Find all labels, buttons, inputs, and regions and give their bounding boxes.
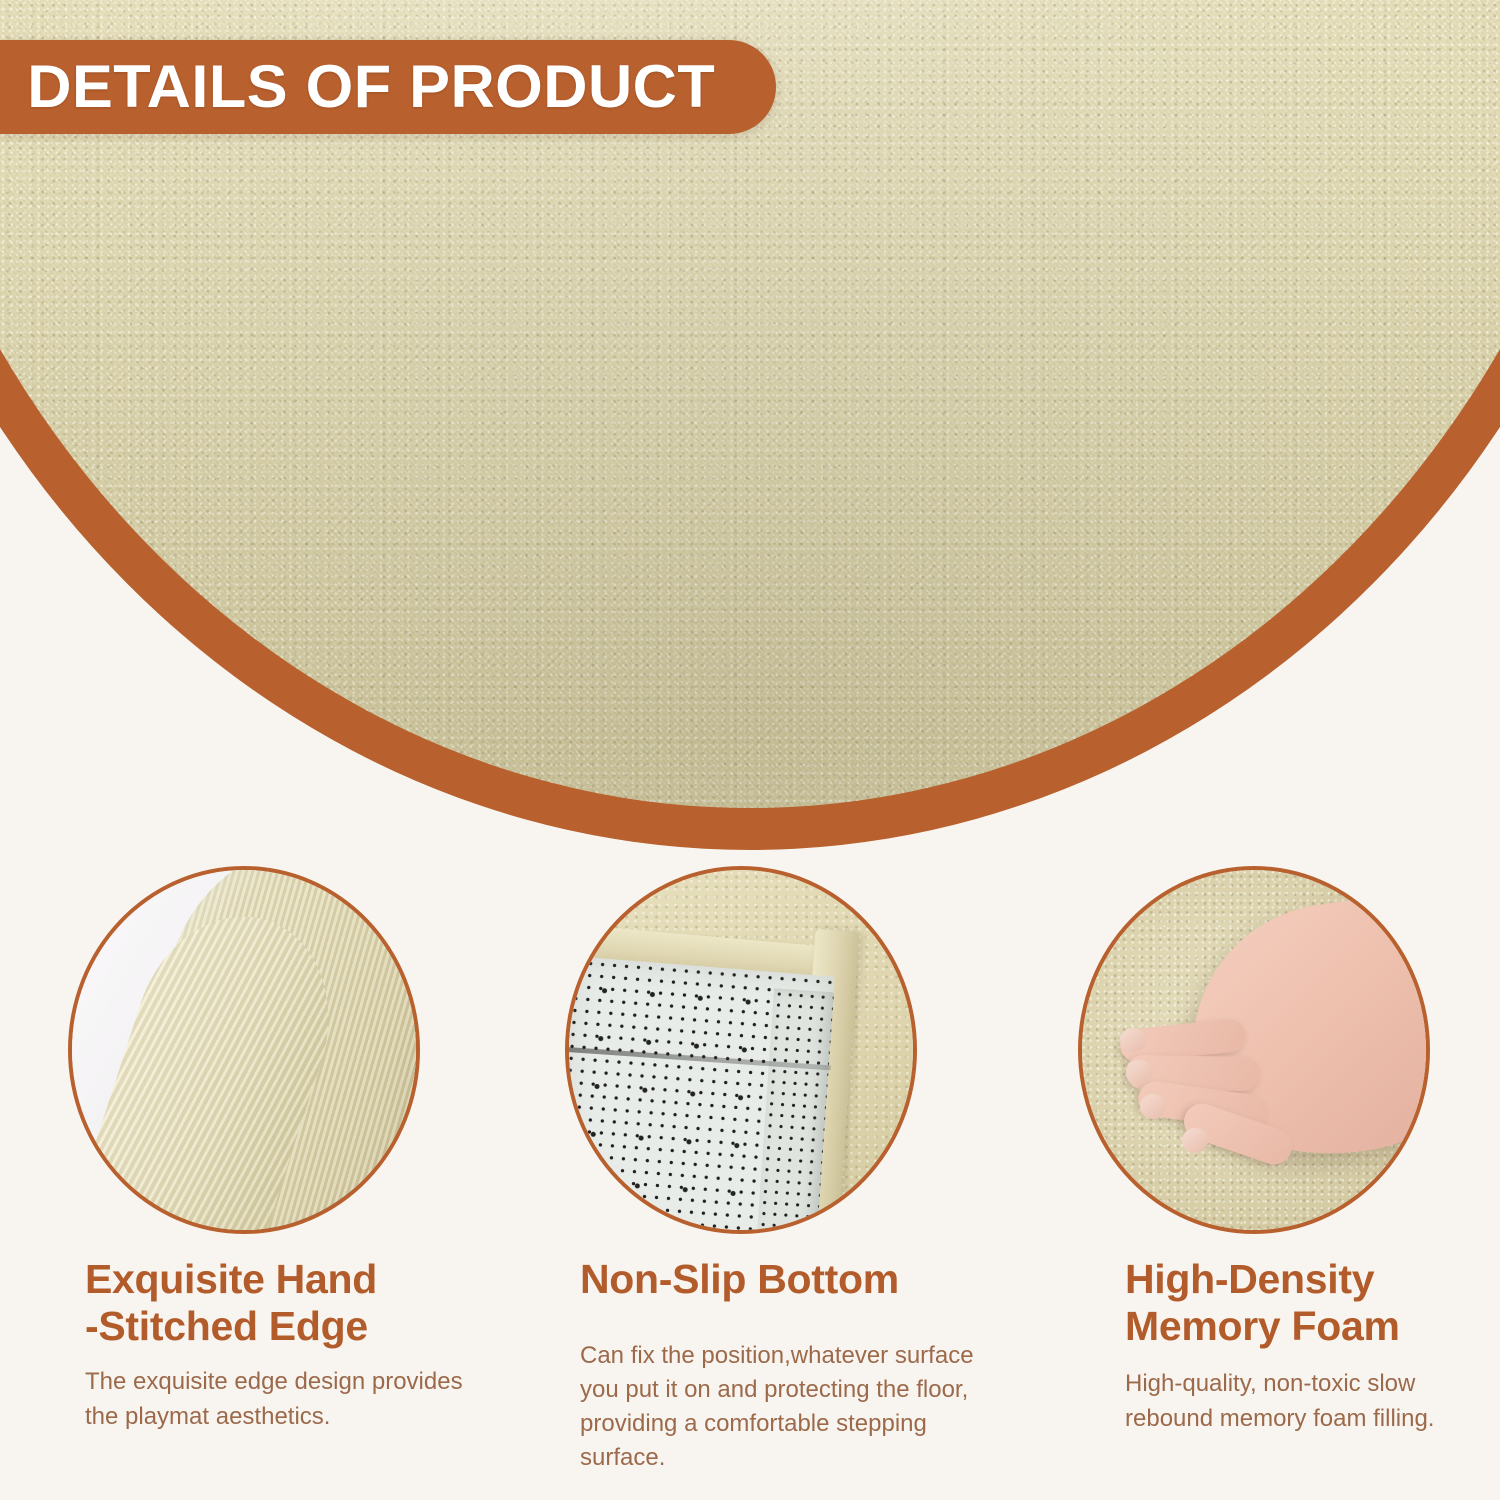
foam-photo-fingernail-ring [1140,1094,1166,1119]
feature-image-high-density-memory-foam [1078,866,1430,1234]
product-detail-infographic: DETAILS OF PRODUCT [0,0,1500,1500]
feature-title: Non-Slip Bottom [580,1256,1000,1303]
feature-text-exquisite-hand-stitched-edge: Exquisite Hand -Stitched Edge The exquis… [85,1256,505,1434]
feature-image-content [1082,870,1426,1230]
section-title-badge: DETAILS OF PRODUCT [0,40,776,134]
feature-title: High-Density Memory Foam [1125,1256,1485,1349]
foam-photo-fingernail-middle [1126,1060,1152,1085]
feature-description: The exquisite edge design provides the p… [85,1365,505,1433]
feature-description: High-quality, non-toxic slow rebound mem… [1125,1367,1485,1435]
feature-text-non-slip-bottom: Non-Slip Bottom Can fix the position,wha… [580,1256,1000,1475]
feature-image-exquisite-hand-stitched-edge [68,866,420,1234]
feature-text-high-density-memory-foam: High-Density Memory Foam High-quality, n… [1125,1256,1485,1436]
foam-photo-fingernail-little [1182,1128,1208,1153]
page-title: DETAILS OF PRODUCT [27,57,715,117]
feature-description: Can fix the position,whatever surface yo… [580,1339,1000,1475]
feature-title: Exquisite Hand -Stitched Edge [85,1256,505,1349]
feature-image-non-slip-bottom [565,866,917,1234]
foam-photo-fingernail-index [1120,1028,1146,1052]
feature-image-content [72,870,416,1230]
feature-image-content [569,870,913,1230]
hero-product-image [0,0,1500,1010]
